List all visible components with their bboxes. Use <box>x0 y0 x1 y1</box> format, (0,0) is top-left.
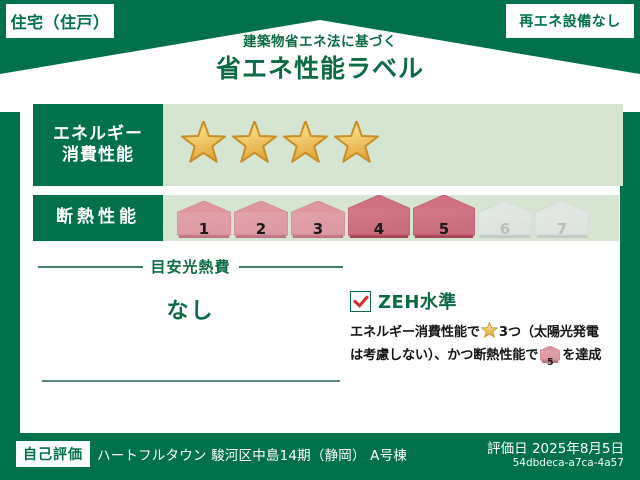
evaluation-id: 54dbdeca-a7ca-4a57 <box>513 457 624 469</box>
label-body-card: エネルギー 消費性能 断熱性能 1234567 目安光熱費 なし <box>20 88 620 433</box>
utility-cost-title: 目安光熱費 <box>151 256 231 277</box>
label-footer: 自己評価 ハートフルタウン 駿河区中島14期（静岡） A号棟 評価日 2025年… <box>0 433 640 480</box>
energy-performance-label-line1: エネルギー <box>53 124 143 145</box>
property-name: ハートフルタウン 駿河区中島14期（静岡） A号棟 <box>97 444 407 464</box>
insulation-scale: 1234567 <box>177 195 589 242</box>
zeh-desc-line1-b: 3つ（太陽光発電 <box>499 325 599 340</box>
cost-bottom-divider <box>42 380 340 382</box>
insulation-performance-key: 断熱性能 <box>33 195 163 241</box>
evaluation-date: 評価日 2025年8月5日 <box>487 437 624 457</box>
star-icon <box>181 121 226 170</box>
energy-performance-row: エネルギー 消費性能 <box>33 104 623 186</box>
star-rating <box>181 121 379 170</box>
checkbox-checked-icon <box>350 291 371 312</box>
cost-rule-right <box>239 266 344 268</box>
energy-performance-key: エネルギー 消費性能 <box>33 104 163 186</box>
energy-performance-label-line2: 消費性能 <box>62 145 134 166</box>
cost-rule-left <box>38 266 143 268</box>
tag-building-type: 住宅（住戸） <box>6 4 114 38</box>
zeh-description: エネルギー消費性能で3つ（太陽光発電 は考慮しない）、かつ断熱性能で5を達成 <box>350 322 615 371</box>
star-icon <box>334 121 379 170</box>
star-icon <box>283 121 328 170</box>
insulation-level-6: 6 <box>478 201 532 242</box>
title-subtitle: 建築物省エネ法に基づく <box>0 36 640 50</box>
insulation-performance-label: 断熱性能 <box>56 207 140 228</box>
insulation-performance-value: 1234567 <box>163 195 619 241</box>
tag-building-type-label: 住宅（住戸） <box>10 9 109 33</box>
star-icon <box>232 121 277 170</box>
zeh-header: ZEH水準 <box>350 288 615 314</box>
zeh-desc-line2-b: を達成 <box>562 348 601 363</box>
energy-performance-label: 住宅（住戸） 再エネ設備なし 建築物省エネ法に基づく 省エネ性能ラベル エネルギ… <box>0 0 640 480</box>
zeh-desc-line1-a: エネルギー消費性能で <box>350 325 480 340</box>
insulation-level-3: 3 <box>291 201 345 242</box>
tag-renewable-energy: 再エネ設備なし <box>506 4 634 38</box>
utility-cost-header: 目安光熱費 <box>38 256 343 277</box>
zeh-block: ZEH水準 エネルギー消費性能で3つ（太陽光発電 は考慮しない）、かつ断熱性能で… <box>350 288 615 371</box>
energy-performance-value <box>163 104 623 186</box>
zeh-desc-line2-a: は考慮しない）、かつ断熱性能で <box>350 348 538 363</box>
label-title-block: 建築物省エネ法に基づく 省エネ性能ラベル <box>0 36 640 81</box>
zeh-title: ZEH水準 <box>378 288 457 314</box>
self-evaluation-badge: 自己評価 <box>16 441 90 467</box>
insulation-level-7: 7 <box>535 201 589 242</box>
tag-renewable-energy-label: 再エネ設備なし <box>519 11 621 31</box>
insulation-level-2: 2 <box>234 201 288 242</box>
house-badge-icon: 5 <box>540 352 560 367</box>
insulation-performance-row: 断熱性能 1234567 <box>33 195 619 241</box>
insulation-level-1: 1 <box>177 201 231 242</box>
insulation-level-5: 5 <box>413 195 475 242</box>
page-title: 省エネ性能ラベル <box>0 56 640 81</box>
star-icon <box>481 328 498 343</box>
insulation-level-4: 4 <box>348 195 410 242</box>
utility-cost-value: なし <box>38 293 343 325</box>
